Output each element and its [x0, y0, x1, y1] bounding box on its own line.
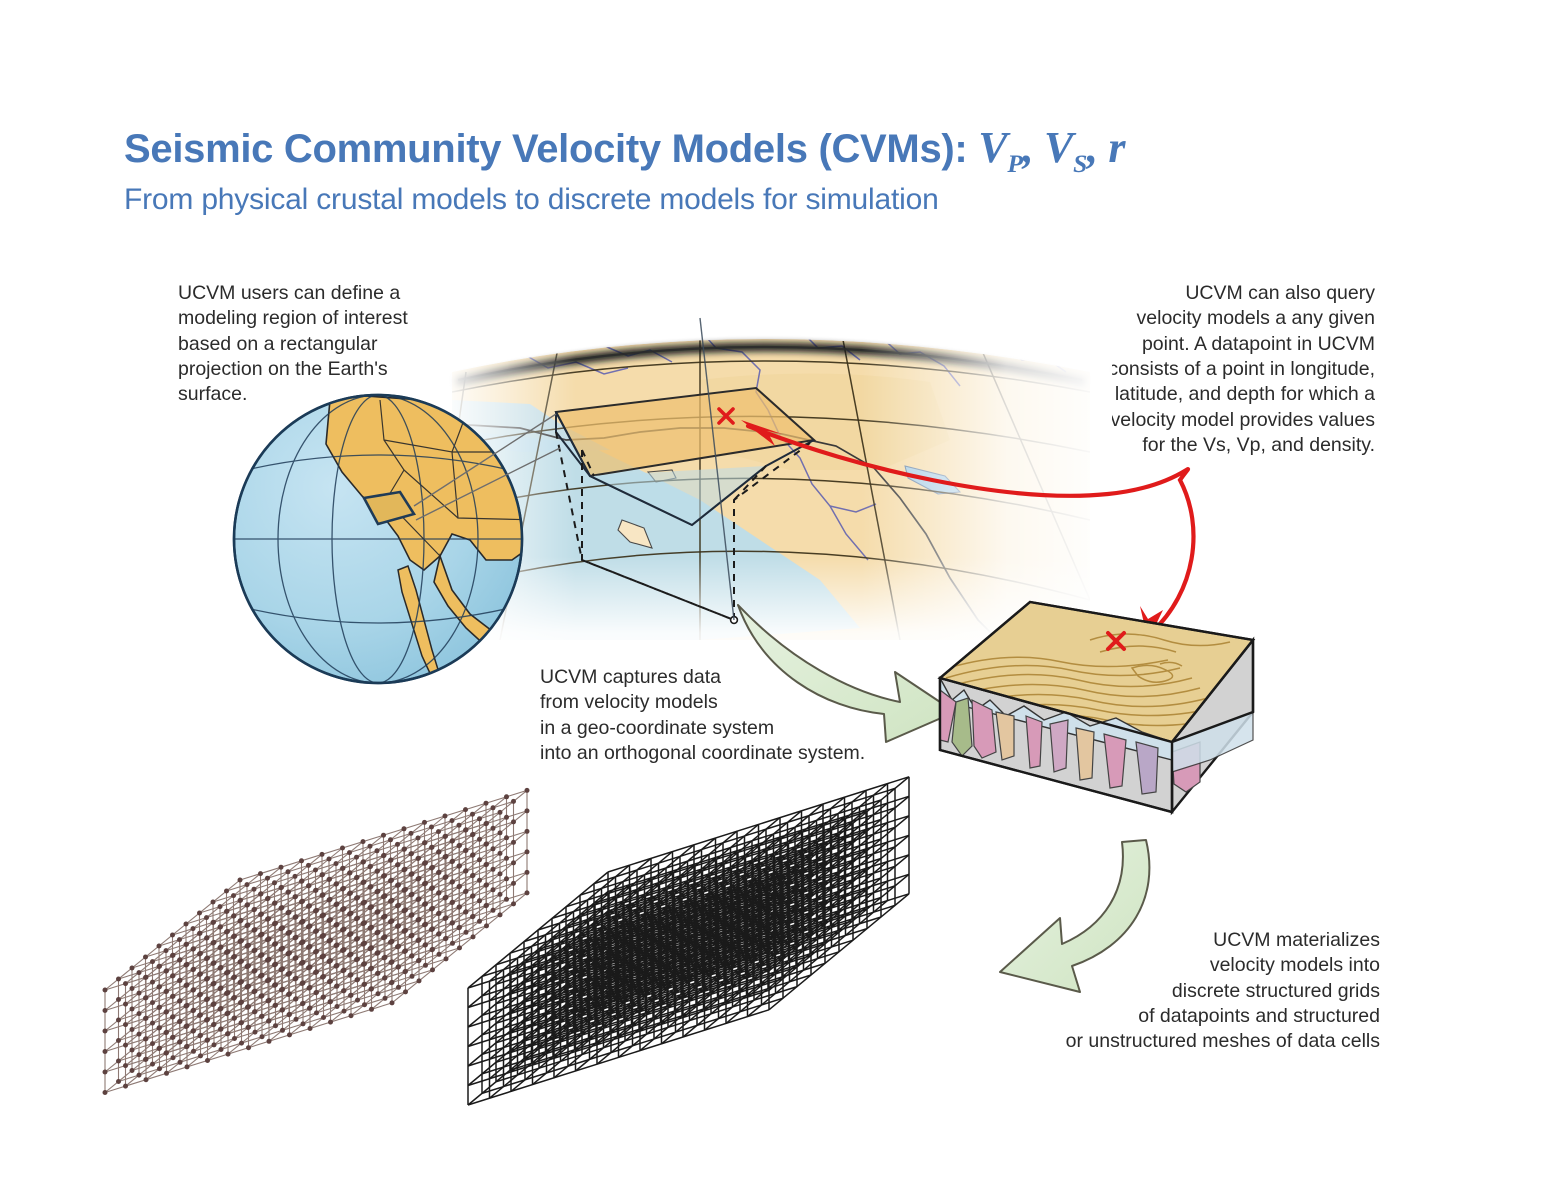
- grid-edge: [392, 893, 527, 1003]
- caption-define-region: UCVM users can define a modeling region …: [178, 281, 440, 408]
- grid-node: [409, 933, 414, 938]
- grid-node: [204, 915, 209, 920]
- grid-node: [205, 1038, 210, 1043]
- grid-node: [423, 901, 428, 906]
- grid-node: [280, 987, 285, 992]
- grid-node: [498, 871, 503, 876]
- grid-node: [396, 903, 401, 908]
- grid-node: [525, 829, 530, 834]
- grid-node: [157, 1005, 162, 1010]
- grid-node: [171, 994, 176, 999]
- grid-edge: [228, 944, 363, 1054]
- grid-node: [252, 887, 257, 892]
- grid-node: [349, 972, 354, 977]
- grid-edge: [132, 878, 419, 968]
- grid-node: [511, 819, 516, 824]
- grid-node: [430, 927, 435, 932]
- grid-node: [279, 926, 284, 931]
- grid-node: [266, 957, 271, 962]
- grid-edge: [392, 831, 527, 941]
- grid-edge: [510, 917, 811, 1012]
- grid-node: [266, 916, 271, 921]
- grid-node: [123, 981, 128, 986]
- grid-edge: [619, 941, 759, 1057]
- grid-node: [259, 912, 264, 917]
- grid-node: [287, 930, 292, 935]
- grid-node: [130, 1007, 135, 1012]
- grid-edge: [351, 803, 486, 913]
- grid-node: [314, 1010, 319, 1015]
- grid-node: [443, 854, 448, 859]
- grid-node: [225, 1011, 230, 1016]
- grid-node: [252, 989, 257, 994]
- grid-edge: [683, 882, 823, 998]
- grid-node: [417, 937, 422, 942]
- grid-node: [470, 812, 475, 817]
- grid-node: [355, 977, 360, 982]
- grid-node: [116, 1038, 121, 1043]
- grid-node: [137, 970, 142, 975]
- grid-node: [164, 948, 169, 953]
- grid-node: [205, 1058, 210, 1063]
- grid-node: [328, 958, 333, 963]
- grid-node: [403, 908, 408, 913]
- grid-node: [375, 951, 380, 956]
- grid-node: [252, 948, 257, 953]
- grid-node: [294, 976, 299, 981]
- grid-node: [368, 885, 373, 890]
- grid-edge: [208, 930, 343, 1040]
- grid-node: [260, 1014, 265, 1019]
- grid-node: [450, 880, 455, 885]
- grid-edge: [640, 896, 780, 1012]
- grid-node: [320, 954, 325, 959]
- grid-node: [498, 892, 503, 897]
- grid-edge: [490, 885, 630, 1001]
- grid-node: [260, 952, 265, 957]
- grid-edge: [331, 810, 466, 920]
- grid-node: [314, 970, 319, 975]
- grid-edge: [290, 863, 425, 973]
- grid-node: [185, 1003, 190, 1008]
- grid-edge: [511, 878, 651, 994]
- grid-node: [340, 928, 345, 933]
- grid-edge: [208, 910, 343, 1020]
- grid-node: [402, 908, 407, 913]
- grid-node: [327, 877, 332, 882]
- grid-node: [205, 1038, 210, 1043]
- grid-node: [300, 920, 305, 925]
- grid-edge: [533, 930, 673, 1046]
- grid-node: [150, 1021, 155, 1026]
- grid-node: [231, 955, 236, 960]
- grid-edge: [310, 898, 445, 1008]
- grid-edge: [331, 912, 466, 1022]
- grid-node: [436, 829, 441, 834]
- grid-node: [464, 909, 469, 914]
- grid-node: [375, 869, 380, 874]
- grid-node: [177, 978, 182, 983]
- grid-node: [340, 907, 345, 912]
- grid-node: [191, 946, 196, 951]
- grid-node: [212, 1001, 217, 1006]
- grid-node: [232, 1016, 237, 1021]
- grid-node: [191, 926, 196, 931]
- grid-node: [328, 979, 333, 984]
- grid-node: [306, 965, 311, 970]
- grid-node: [307, 924, 312, 929]
- grid-node: [286, 869, 291, 874]
- grid-node: [437, 890, 442, 895]
- grid-node: [219, 1047, 224, 1052]
- grid-node: [328, 917, 333, 922]
- grid-node: [313, 950, 318, 955]
- grid-node: [293, 874, 298, 879]
- grid-node: [403, 887, 408, 892]
- grid-node: [185, 1064, 190, 1069]
- grid-node: [403, 887, 408, 892]
- grid-node: [335, 984, 340, 989]
- grid-node: [390, 918, 395, 923]
- grid-node: [381, 833, 386, 838]
- grid-edge: [748, 842, 888, 958]
- grid-node: [444, 915, 449, 920]
- grid-node: [259, 953, 264, 958]
- title-separator-2: ,: [1087, 123, 1108, 172]
- grid-node: [423, 922, 428, 927]
- grid-node: [144, 1057, 149, 1062]
- grid-node: [396, 923, 401, 928]
- grid-node: [198, 1033, 203, 1038]
- grid-node: [273, 983, 278, 988]
- grid-node: [246, 964, 251, 969]
- grid-node: [444, 936, 449, 941]
- grid-node: [341, 927, 346, 932]
- grid-node: [361, 941, 366, 946]
- grid-node: [403, 948, 408, 953]
- grid-node: [355, 957, 360, 962]
- grid-node: [116, 977, 121, 982]
- grid-edge: [269, 849, 404, 959]
- grid-node: [204, 956, 209, 961]
- grid-node: [238, 898, 243, 903]
- grid-node: [226, 990, 231, 995]
- grid-node: [198, 1033, 203, 1038]
- grid-node: [402, 888, 407, 893]
- grid-edge: [511, 936, 651, 1052]
- grid-edge: [159, 918, 446, 1008]
- grid-node: [300, 981, 305, 986]
- grid-node: [301, 939, 306, 944]
- red-arrowhead-block: [1140, 606, 1163, 641]
- grid-node: [224, 889, 229, 894]
- grid-edge: [726, 849, 866, 965]
- grid-node: [301, 980, 306, 985]
- grid-edge: [126, 976, 261, 1086]
- grid-edge: [146, 888, 433, 978]
- grid-node: [423, 943, 428, 948]
- grid-node: [218, 1007, 223, 1012]
- grid-node: [178, 998, 183, 1003]
- grid-node: [422, 881, 427, 886]
- grid-node: [231, 914, 236, 919]
- grid-node: [267, 957, 272, 962]
- grid-node: [197, 911, 202, 916]
- grid-node: [232, 934, 237, 939]
- grid-edge: [748, 803, 888, 919]
- grid-node: [416, 897, 421, 902]
- grid-node: [204, 1018, 209, 1023]
- grid-node: [123, 1022, 128, 1027]
- grid-edge: [619, 844, 759, 960]
- grid-node: [137, 991, 142, 996]
- grid-edge: [576, 877, 716, 993]
- grid-edge: [392, 790, 527, 900]
- grid-node: [279, 885, 284, 890]
- grid-node: [286, 972, 291, 977]
- grid-node: [226, 1052, 231, 1057]
- grid-edge: [597, 909, 737, 1025]
- grid-node: [224, 991, 229, 996]
- grid-edge: [662, 850, 802, 966]
- grid-node: [170, 953, 175, 958]
- grid-node: [293, 894, 298, 899]
- grid-node: [437, 952, 442, 957]
- grid-node: [178, 978, 183, 983]
- grid-node: [321, 974, 326, 979]
- grid-edge: [290, 904, 425, 1014]
- grid-node: [348, 932, 353, 937]
- grid-node: [259, 973, 264, 978]
- grid-edge: [227, 883, 514, 973]
- grid-node: [388, 858, 393, 863]
- grid-node: [246, 1025, 251, 1030]
- grid-node: [273, 1003, 278, 1008]
- grid-node: [342, 988, 347, 993]
- grid-node: [430, 967, 435, 972]
- grid-node: [491, 908, 496, 913]
- grid-edge: [524, 944, 825, 1039]
- grid-node: [335, 1004, 340, 1009]
- grid-node: [225, 929, 230, 934]
- grid-node: [376, 991, 381, 996]
- grid-node: [279, 967, 284, 972]
- grid-edge: [640, 915, 780, 1031]
- grid-edge: [490, 943, 630, 1059]
- grid-edge: [640, 935, 780, 1051]
- grid-node: [349, 911, 354, 916]
- grid-edge: [510, 897, 811, 992]
- grid-edge: [524, 885, 825, 980]
- grid-node: [123, 1002, 128, 1007]
- grid-node: [348, 973, 353, 978]
- grid-edge: [290, 843, 425, 953]
- grid-edge: [187, 916, 322, 1026]
- grid-node: [219, 1027, 224, 1032]
- grid-node: [246, 1025, 251, 1030]
- grid-node: [225, 990, 230, 995]
- grid-edge: [683, 804, 823, 920]
- grid-node: [204, 977, 209, 982]
- grid-edge: [683, 921, 823, 1037]
- grid-node: [245, 923, 250, 928]
- grid-node: [381, 915, 386, 920]
- grid-node: [334, 963, 339, 968]
- grid-node: [362, 982, 367, 987]
- grid-node: [191, 967, 196, 972]
- grid-edge: [132, 981, 419, 1071]
- grid-node: [260, 973, 265, 978]
- grid-node: [409, 933, 414, 938]
- grid-node: [307, 986, 312, 991]
- grid-node: [299, 940, 304, 945]
- grid-node: [375, 910, 380, 915]
- grid-node: [402, 847, 407, 852]
- grid-edge: [213, 853, 500, 943]
- grid-node: [327, 857, 332, 862]
- grid-node: [273, 942, 278, 947]
- grid-node: [362, 920, 367, 925]
- grid-node: [252, 989, 257, 994]
- grid-node: [361, 921, 366, 926]
- grid-node: [409, 892, 414, 897]
- grid-node: [362, 941, 367, 946]
- globe-to-map-connector: [414, 414, 560, 520]
- grid-node: [403, 928, 408, 933]
- grid-edge: [468, 950, 608, 1066]
- grid-edge: [580, 800, 881, 895]
- grid-node: [362, 900, 367, 905]
- grid-edge: [167, 861, 302, 971]
- grid-node: [361, 901, 366, 906]
- grid-node: [463, 848, 468, 853]
- grid-node: [382, 955, 387, 960]
- grid-node: [320, 934, 325, 939]
- grid-node: [294, 935, 299, 940]
- grid-node: [321, 974, 326, 979]
- grid-node: [143, 955, 148, 960]
- grid-node: [272, 962, 277, 967]
- grid-node: [402, 888, 407, 893]
- grid-node: [328, 917, 333, 922]
- grid-node: [218, 924, 223, 929]
- grid-node: [416, 958, 421, 963]
- grid-edge: [240, 893, 527, 983]
- grid-node: [178, 1019, 183, 1024]
- grid-node: [307, 985, 312, 990]
- grid-node: [361, 880, 366, 885]
- grid-edge: [105, 983, 240, 1093]
- grid-node: [368, 926, 373, 931]
- grid-node: [342, 1009, 347, 1014]
- grid-edge: [597, 831, 737, 947]
- grid-node: [259, 932, 264, 937]
- grid-node: [341, 886, 346, 891]
- grid-edge: [705, 895, 845, 1011]
- earth-globe: [234, 395, 560, 700]
- grid-edge: [240, 790, 527, 880]
- grid-node: [430, 865, 435, 870]
- grid-node: [137, 1052, 142, 1057]
- grid-node: [498, 851, 503, 856]
- grid-node: [320, 954, 325, 959]
- grid-node: [294, 996, 299, 1001]
- grid-edge: [748, 901, 888, 1017]
- grid-edge: [566, 851, 867, 946]
- grid-edge: [552, 940, 853, 1035]
- grid-node: [211, 920, 216, 925]
- grid-node: [307, 945, 312, 950]
- grid-edge: [240, 811, 527, 901]
- grid-edge: [594, 905, 895, 1000]
- grid-node: [238, 980, 243, 985]
- grid-node: [321, 995, 326, 1000]
- grid-edge: [496, 889, 797, 984]
- grid-node: [170, 994, 175, 999]
- grid-node: [157, 984, 162, 989]
- grid-node: [218, 1027, 223, 1032]
- grid-node: [389, 960, 394, 965]
- grid-node: [300, 981, 305, 986]
- grid-node: [177, 958, 182, 963]
- grid-node: [327, 898, 332, 903]
- grid-node: [403, 969, 408, 974]
- grid-node: [457, 925, 462, 930]
- grid-node: [143, 1057, 148, 1062]
- grid-node: [272, 942, 277, 947]
- grid-node: [511, 860, 516, 865]
- grid-edge: [173, 907, 460, 997]
- grid-edge: [249, 835, 384, 945]
- grid-edge: [490, 904, 630, 1020]
- grid-edge: [105, 942, 240, 1052]
- grid-node: [306, 863, 311, 868]
- grid-node: [430, 865, 435, 870]
- grid-node: [443, 896, 448, 901]
- grid-node: [171, 1014, 176, 1019]
- grid-edge: [468, 970, 608, 1086]
- grid-node: [287, 992, 292, 997]
- grid-edge: [351, 885, 486, 995]
- grid-node: [286, 931, 291, 936]
- grid-edge: [186, 875, 473, 965]
- grid-node: [375, 889, 380, 894]
- grid-node: [471, 832, 476, 837]
- grid-node: [443, 916, 448, 921]
- grid-node: [279, 967, 284, 972]
- grid-node: [321, 892, 326, 897]
- grid-node: [429, 866, 434, 871]
- grid-edge: [490, 982, 630, 1098]
- grid-node: [144, 995, 149, 1000]
- grid-node: [327, 959, 332, 964]
- grid-node: [342, 968, 347, 973]
- grid-node: [504, 794, 509, 799]
- grid-node: [511, 799, 516, 804]
- grid-node: [422, 902, 427, 907]
- grid-node: [403, 989, 408, 994]
- grid-node: [219, 965, 224, 970]
- grid-node: [348, 952, 353, 957]
- grid-node: [368, 925, 373, 930]
- grid-node: [396, 862, 401, 867]
- grid-node: [157, 1005, 162, 1010]
- grid-edge: [200, 926, 487, 1016]
- grid-edge: [269, 829, 404, 939]
- grid-node: [137, 1011, 142, 1016]
- grid-node: [327, 918, 332, 923]
- grid-node: [368, 946, 373, 951]
